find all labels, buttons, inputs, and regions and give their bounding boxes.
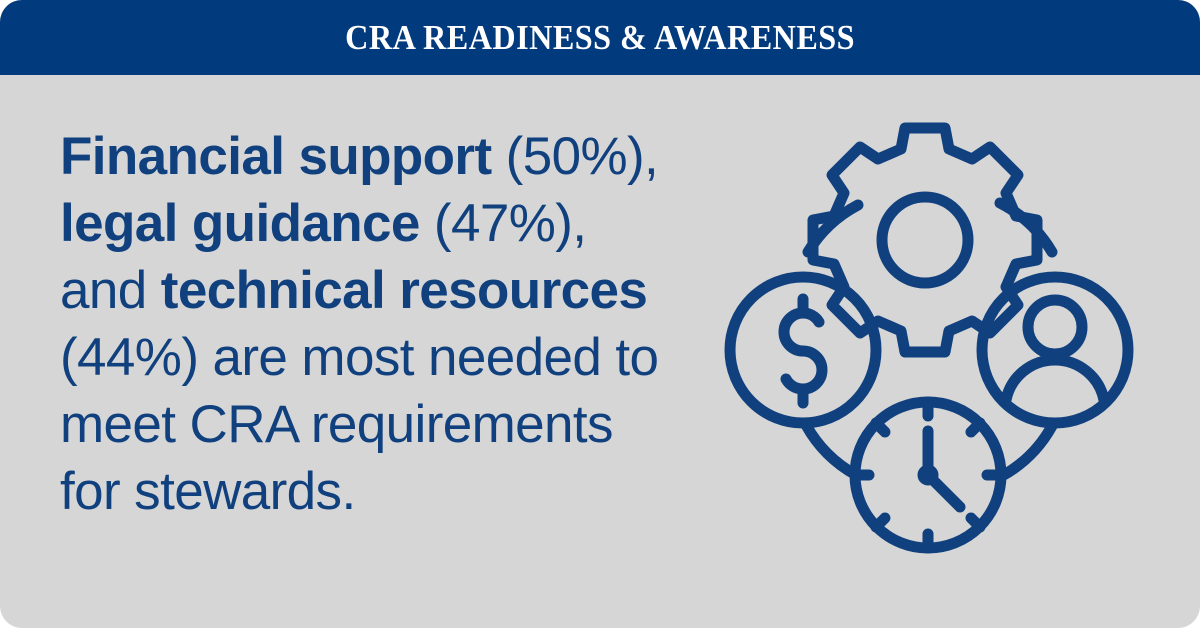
clock-tick-4-5 bbox=[971, 518, 980, 527]
gear-icon bbox=[813, 128, 1037, 352]
clock-icon bbox=[855, 402, 1001, 548]
clock-tick-10-11 bbox=[876, 423, 885, 432]
header-band: CRA READINESS & AWARENESS bbox=[0, 0, 1200, 75]
clock-center-pin bbox=[923, 470, 933, 480]
body-area: Financial support (50%), legal guidance … bbox=[0, 75, 1200, 628]
statement-text: Financial support (50%), legal guidance … bbox=[60, 123, 680, 525]
statement-segment-2: legal guidance bbox=[60, 194, 420, 253]
arc-bottom-right bbox=[1002, 426, 1052, 476]
dollar-circle-icon bbox=[730, 277, 876, 423]
statement-segment-5: (44%) are most needed to meet CRA requir… bbox=[60, 328, 658, 521]
clock-tick-1-2 bbox=[971, 423, 980, 432]
illustration bbox=[700, 95, 1150, 595]
person-circle-icon bbox=[982, 277, 1128, 423]
arc-bottom-left bbox=[806, 425, 856, 475]
header-title: CRA READINESS & AWARENESS bbox=[345, 20, 855, 55]
statement-segment-1: (50%), bbox=[492, 127, 659, 186]
person-shoulders bbox=[1006, 360, 1104, 400]
statement-segment-4: technical resources bbox=[161, 261, 647, 320]
person-head bbox=[1028, 300, 1082, 354]
infographic-card: CRA READINESS & AWARENESS Financial supp… bbox=[0, 0, 1200, 628]
dollar-s-curve bbox=[784, 313, 822, 389]
clock-tick-7-8 bbox=[876, 518, 885, 527]
statement-segment-0: Financial support bbox=[60, 127, 492, 186]
gear-hub-circle bbox=[882, 197, 968, 283]
